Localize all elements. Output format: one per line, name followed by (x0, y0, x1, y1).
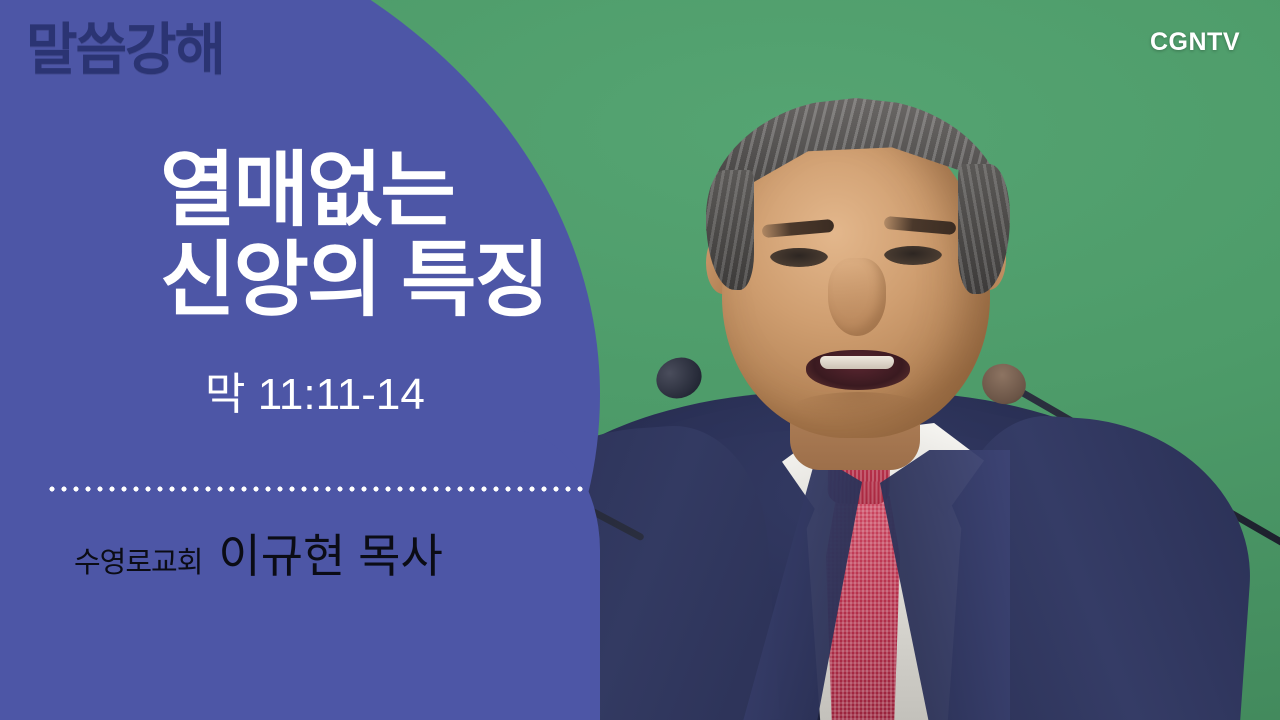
speaker-eye-left (770, 248, 828, 267)
speaker-chin-shadow (790, 392, 926, 428)
program-logo: 말씀강해 (26, 22, 224, 78)
presenter-name: 이규현 목사 (218, 520, 442, 586)
dotted-divider (46, 486, 586, 492)
title-panel-content: 말씀강해 열매없는 신앙의 특징 막 11:11-14 수영로교회 이규현 목사 (0, 0, 620, 720)
sermon-title: 열매없는 신앙의 특징 (160, 146, 590, 326)
speaker-eye-right (884, 246, 942, 265)
sermon-title-line-1: 열매없는 (160, 145, 454, 236)
presenter-credit: 수영로교회 이규현 목사 (74, 520, 443, 586)
channel-watermark: CGNTV (1150, 28, 1240, 57)
sermon-title-line-2: 신앙의 특징 (160, 236, 590, 326)
microphone-head-left-icon (650, 351, 708, 405)
speaker-teeth (820, 356, 894, 369)
scripture-reference: 막 11:11-14 (205, 358, 425, 422)
broadcast-frame: 말씀강해 열매없는 신앙의 특징 막 11:11-14 수영로교회 이규현 목사… (0, 0, 1280, 720)
speaker-nose (828, 258, 886, 336)
presenter-church: 수영로교회 (74, 539, 202, 581)
